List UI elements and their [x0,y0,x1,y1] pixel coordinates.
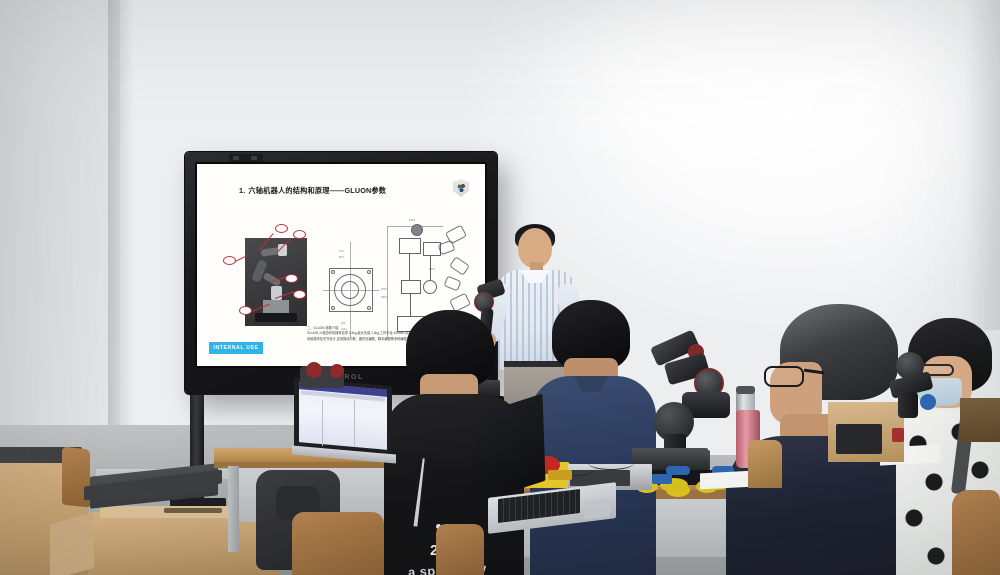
chair-back-far-right [952,490,1000,575]
lens-ring-red [306,362,322,378]
thermos-cap [736,386,755,394]
dim-label: 58.5 [339,256,344,259]
classroom-scene: 1.六轴机器人的结构和原理——GLUON参数 [0,0,1000,575]
box-handle-cutout [164,508,222,513]
lens-ring-red [330,364,344,378]
university-shield-logo [453,179,469,197]
ceiling-light-glow [520,0,940,190]
callout-bubble [275,224,288,233]
chair-back-right [748,440,782,488]
spreadsheet-gridline [354,400,355,446]
callout-bubble [285,274,298,283]
slide-title-number: 1. [239,186,245,195]
internal-use-label: INTERNAL USE [213,345,258,351]
box-flap [50,512,94,575]
laptop-dark[interactable] [292,382,396,474]
dim-label: 275.5 [381,288,387,291]
spreadsheet-gridline [322,400,323,446]
small-blue-part [652,474,672,484]
desk-left-leg [228,466,239,552]
equipment-box-dark [836,424,882,454]
right-wall-corner [964,0,1000,330]
laptop-silver[interactable] [480,438,620,542]
chair-back-center-left [292,512,384,575]
paper-sheet [700,471,754,490]
cad-top-view: 76.5 58.5 φ60 124.0 [323,242,379,338]
wooden-block-far-right [960,398,1000,442]
callout-bubble [293,290,306,299]
dim-label: 135.5 [409,219,415,222]
callout-bubble [293,230,306,239]
webcam-icon [229,154,263,162]
callout-bubble [239,306,252,315]
eyeglasses-icon [764,366,804,387]
dim-label: φ60 [341,322,345,325]
small-yellow-part [548,470,572,480]
red-connector [892,428,904,442]
dim-label: 286.5 [381,296,387,299]
dim-label: 76.5 [339,250,344,253]
camera-gimbal [886,352,948,424]
callout-bubble [223,256,236,265]
slide-title: 1.六轴机器人的结构和原理——GLUON参数 [239,186,441,196]
internal-use-badge: INTERNAL USE [209,342,263,354]
slide-title-text: 六轴机器人的结构和原理——GLUON参数 [248,186,386,195]
chair-back-center [436,524,484,575]
